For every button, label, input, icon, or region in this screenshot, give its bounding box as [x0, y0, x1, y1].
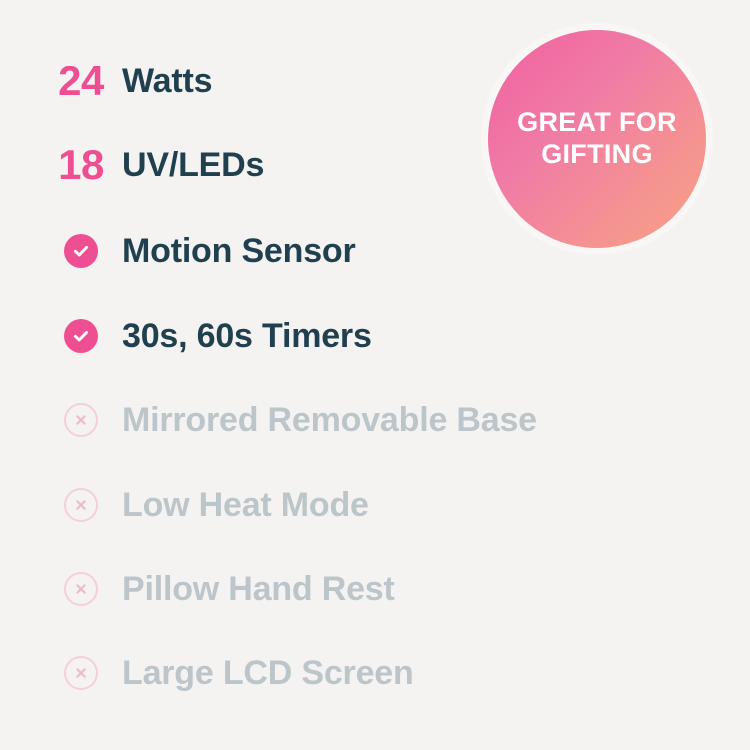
gift-badge-line-1: GREAT FOR	[517, 107, 677, 137]
feature-marker	[40, 645, 122, 701]
feature-label: Low Heat Mode	[122, 488, 369, 522]
watts-count: 24	[40, 53, 122, 109]
feature-marker	[40, 477, 122, 533]
cross-circle-icon	[64, 403, 98, 437]
feature-row-large-lcd-screen: Large LCD Screen	[40, 645, 740, 701]
cross-circle-icon	[64, 656, 98, 690]
feature-marker	[40, 392, 122, 448]
feature-row-mirrored-base: Mirrored Removable Base	[40, 392, 740, 448]
feature-label: Watts	[122, 64, 212, 98]
feature-marker	[40, 561, 122, 617]
product-feature-spec-card: 24 Watts 18 UV/LEDs Motion Sensor	[0, 0, 750, 750]
feature-marker	[40, 223, 122, 279]
gift-badge-label: GREAT FOR GIFTING	[509, 107, 685, 171]
feature-row-pillow-hand-rest: Pillow Hand Rest	[40, 561, 740, 617]
check-circle-icon	[64, 319, 98, 353]
gift-badge-circle: GREAT FOR GIFTING	[488, 30, 706, 248]
check-circle-icon	[64, 234, 98, 268]
feature-marker-number: 18	[58, 144, 104, 186]
cross-circle-icon	[64, 488, 98, 522]
feature-label: UV/LEDs	[122, 148, 264, 182]
feature-marker	[40, 308, 122, 364]
feature-label: Pillow Hand Rest	[122, 572, 395, 606]
gift-badge-line-2: GIFTING	[517, 139, 677, 171]
feature-label: Mirrored Removable Base	[122, 403, 537, 437]
feature-label: Motion Sensor	[122, 234, 356, 268]
cross-circle-icon	[64, 572, 98, 606]
feature-label: Large LCD Screen	[122, 656, 414, 690]
feature-marker-number: 24	[58, 60, 104, 102]
feature-label: 30s, 60s Timers	[122, 319, 372, 353]
feature-row-timers: 30s, 60s Timers	[40, 308, 740, 364]
feature-row-low-heat-mode: Low Heat Mode	[40, 477, 740, 533]
uvled-count: 18	[40, 137, 122, 193]
